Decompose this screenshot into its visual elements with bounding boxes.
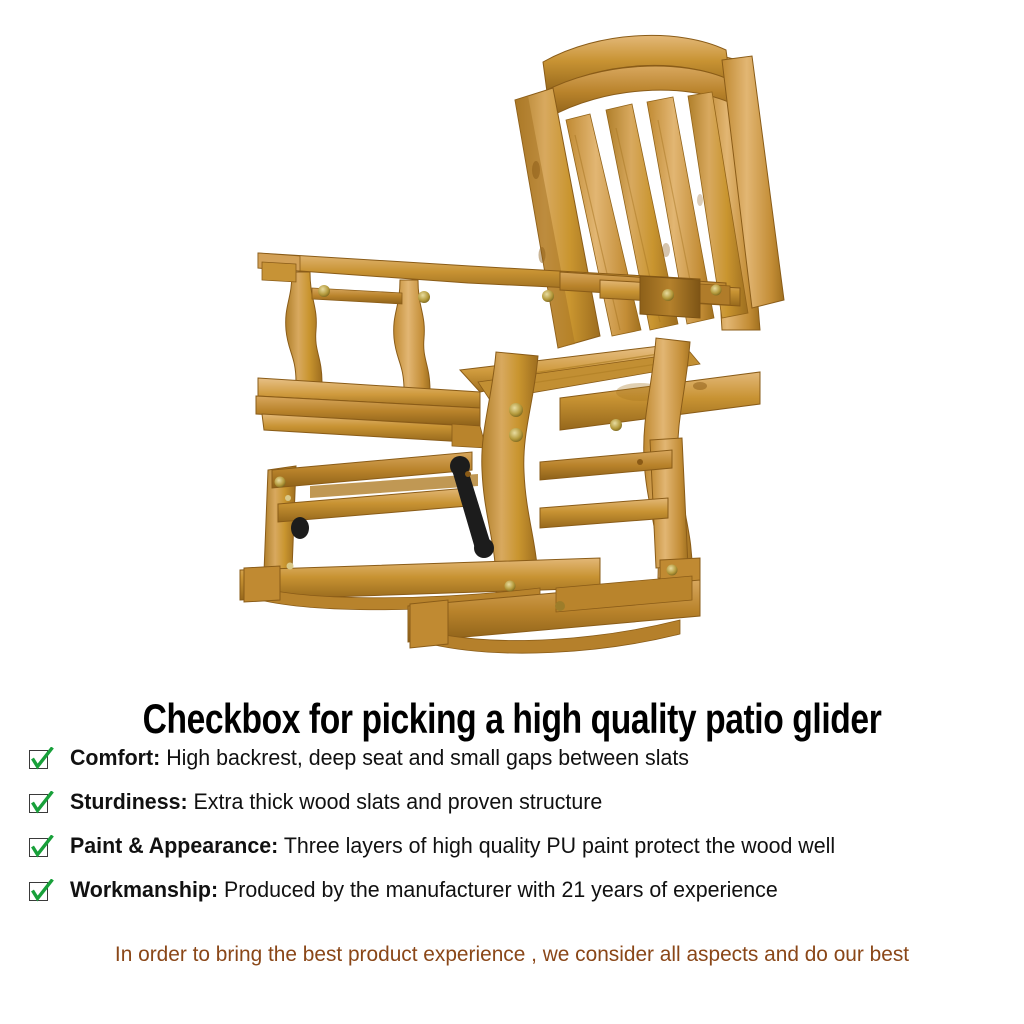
feature-checklist: Comfort: High backrest, deep seat and sm… <box>0 744 1024 920</box>
checked-checkbox-icon <box>28 879 54 905</box>
patio-glider-chair-illustration <box>0 0 1024 665</box>
feature-label: Comfort: <box>70 745 160 770</box>
feature-text: Comfort: High backrest, deep seat and sm… <box>70 744 689 772</box>
feature-label: Sturdiness: <box>70 789 188 814</box>
list-item: Comfort: High backrest, deep seat and sm… <box>0 744 1024 788</box>
product-image-area <box>0 0 1024 665</box>
checked-checkbox-icon <box>28 747 54 773</box>
green-check-icon <box>28 791 54 817</box>
green-check-icon <box>28 879 54 905</box>
green-check-icon <box>28 747 54 773</box>
list-item: Workmanship: Produced by the manufacture… <box>0 876 1024 920</box>
footer-tagline: In order to bring the best product exper… <box>15 940 1008 968</box>
feature-description: High backrest, deep seat and small gaps … <box>166 745 689 770</box>
feature-label: Workmanship: <box>70 877 218 902</box>
feature-text: Sturdiness: Extra thick wood slats and p… <box>70 788 602 816</box>
feature-description: Extra thick wood slats and proven struct… <box>194 789 603 814</box>
page-title: Checkbox for picking a high quality pati… <box>102 696 921 742</box>
feature-description: Produced by the manufacturer with 21 yea… <box>224 877 778 902</box>
feature-label: Paint & Appearance: <box>70 833 278 858</box>
green-check-icon <box>28 835 54 861</box>
feature-text: Paint & Appearance: Three layers of high… <box>70 832 835 860</box>
checked-checkbox-icon <box>28 791 54 817</box>
list-item: Paint & Appearance: Three layers of high… <box>0 832 1024 876</box>
feature-description: Three layers of high quality PU paint pr… <box>284 833 835 858</box>
feature-text: Workmanship: Produced by the manufacture… <box>70 876 778 904</box>
list-item: Sturdiness: Extra thick wood slats and p… <box>0 788 1024 832</box>
checked-checkbox-icon <box>28 835 54 861</box>
